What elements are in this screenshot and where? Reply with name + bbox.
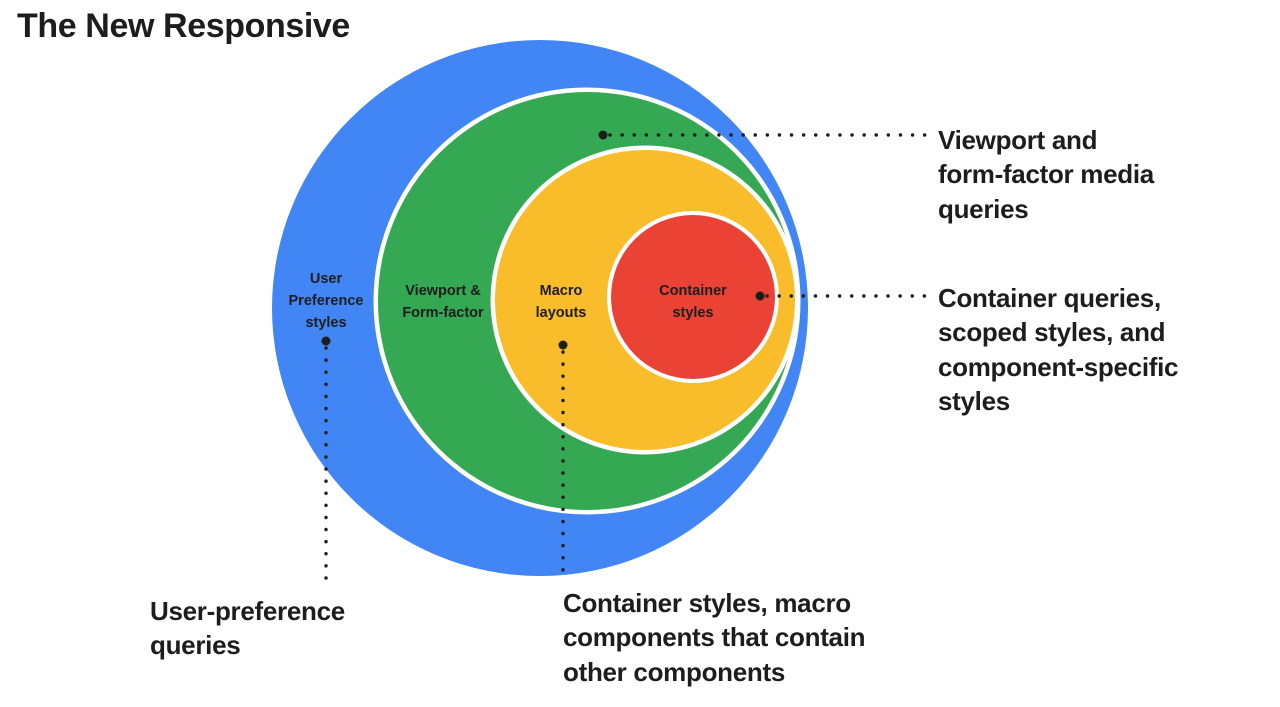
callout-viewport-line-3: queries xyxy=(938,192,1268,226)
callout-macro-line-2: components that contain xyxy=(563,620,993,654)
callout-container-line-1: Container queries, xyxy=(938,281,1274,315)
callout-user-preference-queries: User-preference queries xyxy=(150,594,450,663)
callout-macro-line-1: Container styles, macro xyxy=(563,586,993,620)
callout-viewport-line-2: form-factor media xyxy=(938,157,1268,191)
slide-canvas: The New Responsive User Preference style… xyxy=(0,0,1280,707)
ring-label-viewport-form-factor-line-2: Form-factor xyxy=(402,305,484,321)
callout-macro-components: Container styles, macro components that … xyxy=(563,586,993,689)
ring-label-user-preference-line-2: Preference xyxy=(289,293,364,309)
callout-container-line-2: scoped styles, and xyxy=(938,315,1274,349)
leader-dot-macro xyxy=(559,341,568,350)
leader-dot-viewport xyxy=(599,131,608,140)
callout-container-line-3: component-specific xyxy=(938,350,1274,384)
callout-viewport-line-1: Viewport and xyxy=(938,123,1268,157)
callout-container-line-4: styles xyxy=(938,384,1274,418)
callout-user-preference-line-1: User-preference xyxy=(150,594,450,628)
ring-label-macro-layouts-line-1: Macro xyxy=(540,283,583,299)
ring-label-container-styles-line-1: Container xyxy=(659,283,727,299)
ring-label-user-preference-line-1: User xyxy=(310,271,343,287)
ring-label-macro-layouts-line-2: layouts xyxy=(536,305,587,321)
callout-user-preference-line-2: queries xyxy=(150,628,450,662)
callout-viewport-media-queries: Viewport and form-factor media queries xyxy=(938,123,1268,226)
ring-label-viewport-form-factor-line-1: Viewport & xyxy=(405,283,481,299)
callout-macro-line-3: other components xyxy=(563,655,993,689)
ring-label-container-styles-line-2: styles xyxy=(672,305,713,321)
leader-dot-user-preference xyxy=(322,337,331,346)
callout-container-queries: Container queries, scoped styles, and co… xyxy=(938,281,1274,418)
leader-dot-container xyxy=(756,292,765,301)
ring-label-user-preference-line-3: styles xyxy=(305,315,346,331)
